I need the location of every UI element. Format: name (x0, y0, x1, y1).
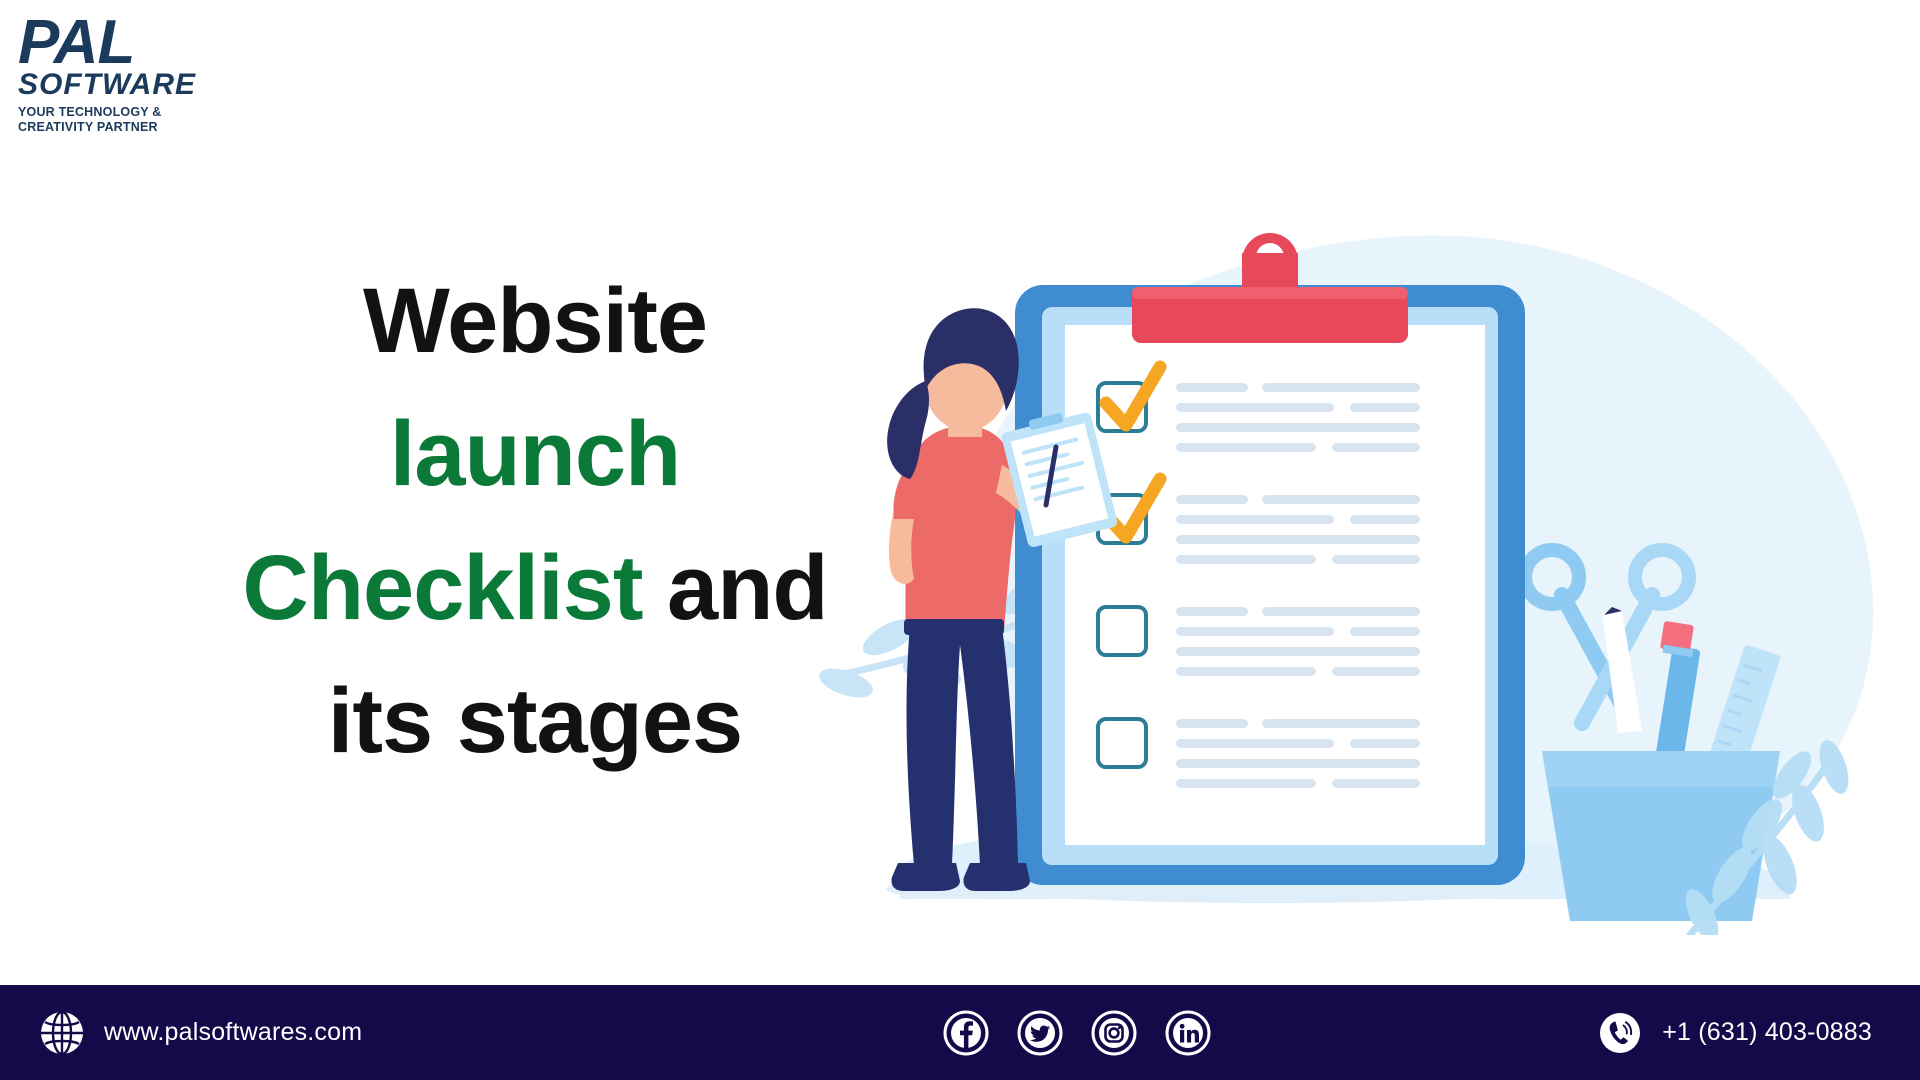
footer-social-links (558, 1009, 1596, 1057)
logo-tagline-line2: CREATIVITY PARTNER (18, 120, 238, 135)
linkedin-icon[interactable] (1164, 1009, 1212, 1057)
footer-phone-text[interactable]: +1 (631) 403-0883 (1662, 1018, 1872, 1047)
person-pants (907, 625, 1018, 865)
person-shoe-right (964, 863, 1031, 891)
person-shoe-left (892, 863, 961, 891)
person-shirt (905, 426, 1016, 631)
logo-tagline-line1: YOUR TECHNOLOGY & (18, 105, 238, 120)
headline-accent-checklist: Checklist (242, 537, 642, 639)
footer-website-text[interactable]: www.palsoftwares.com (104, 1018, 362, 1047)
logo-software-text: SOFTWARE (18, 69, 238, 101)
logo-pal-text: PAL (18, 14, 238, 71)
footer-phone-group[interactable]: +1 (631) 403-0883 (1596, 1009, 1872, 1057)
clipboard (1015, 233, 1525, 903)
footer-bar: www.palsoftwares.com (0, 985, 1920, 1080)
logo-tagline: YOUR TECHNOLOGY & CREATIVITY PARTNER (18, 105, 238, 136)
brand-logo[interactable]: PAL SOFTWARE YOUR TECHNOLOGY & CREATIVIT… (18, 14, 238, 135)
footer-website-group[interactable]: www.palsoftwares.com (38, 1009, 558, 1057)
twitter-icon[interactable] (1016, 1009, 1064, 1057)
facebook-icon[interactable] (942, 1009, 990, 1057)
hero-illustration (780, 175, 1920, 935)
phone-icon (1596, 1009, 1644, 1057)
instagram-icon[interactable] (1090, 1009, 1138, 1057)
globe-icon (38, 1009, 86, 1057)
